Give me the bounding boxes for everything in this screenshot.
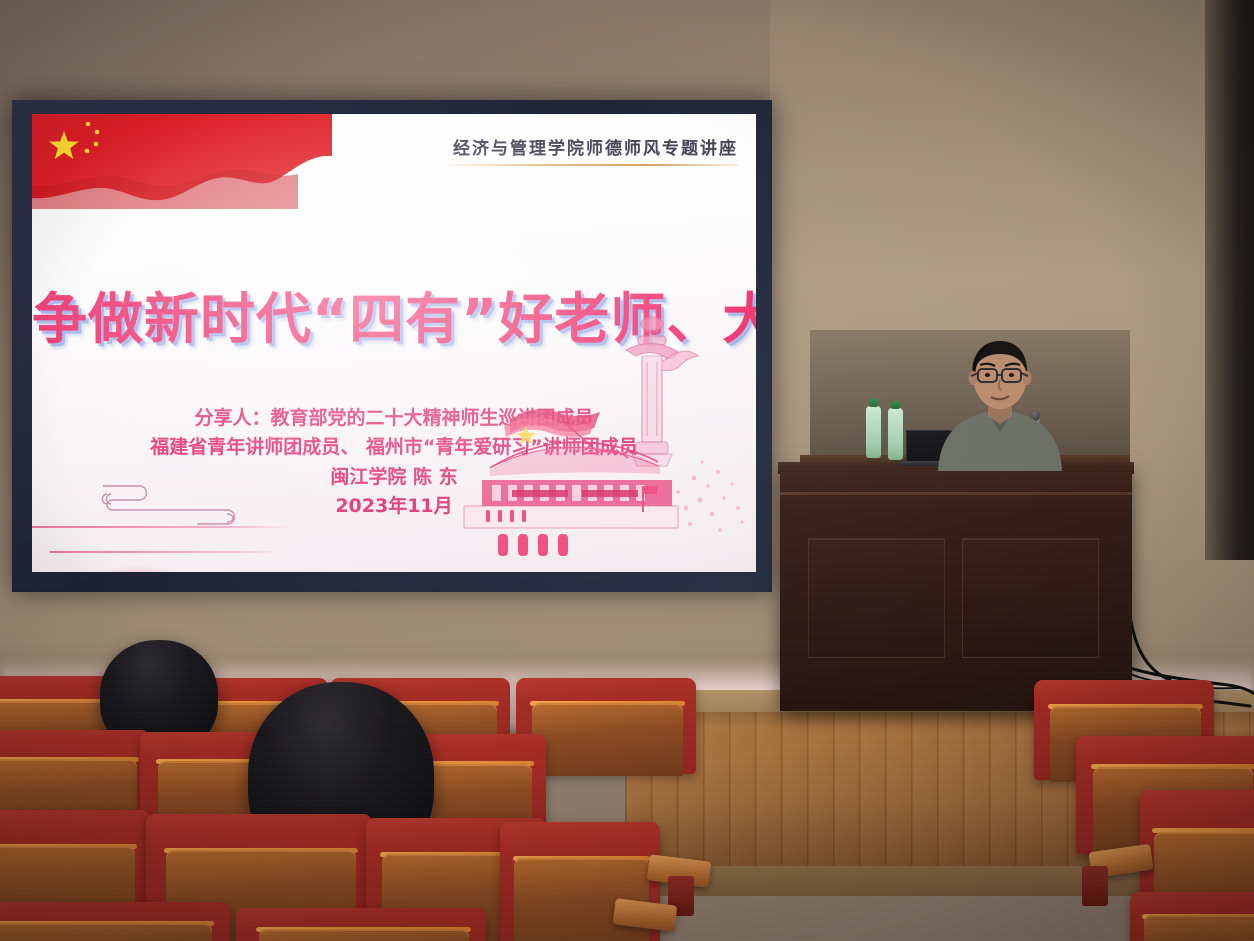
water-bottle bbox=[888, 408, 903, 460]
slide-smudge bbox=[92, 566, 182, 572]
seat bbox=[236, 908, 486, 941]
lecture-hall-photo: 经济与管理学院师德师风专题讲座 争做新时代“四有”好老师、大先生 分享人：教育部… bbox=[0, 0, 1254, 941]
seat-armrest-base bbox=[1082, 866, 1108, 906]
projection-screen-frame: 经济与管理学院师德师风专题讲座 争做新时代“四有”好老师、大先生 分享人：教育部… bbox=[12, 100, 772, 592]
lectern-rail bbox=[780, 492, 1132, 495]
audience-seating bbox=[0, 640, 1254, 941]
seat bbox=[0, 902, 230, 941]
water-bottle bbox=[866, 406, 881, 458]
chinese-flag-icon bbox=[32, 114, 332, 209]
slide-header-rule bbox=[438, 164, 738, 166]
slide-rule-upper bbox=[32, 526, 294, 528]
slide-header-text: 经济与管理学院师德师风专题讲座 bbox=[438, 134, 738, 159]
slide-rule-lower bbox=[50, 551, 280, 553]
huabiao-column-icon bbox=[626, 317, 698, 466]
speaker-person bbox=[930, 336, 1070, 471]
slide-header: 经济与管理学院师德师风专题讲座 bbox=[438, 134, 738, 166]
auspicious-cloud-ornament bbox=[77, 464, 247, 572]
projection-screen: 经济与管理学院师德师风专题讲座 争做新时代“四有”好老师、大先生 分享人：教育部… bbox=[32, 114, 756, 572]
seat bbox=[1130, 892, 1254, 941]
tiananmen-gate-illustration bbox=[456, 302, 756, 572]
gate-flags-icon bbox=[504, 409, 600, 444]
